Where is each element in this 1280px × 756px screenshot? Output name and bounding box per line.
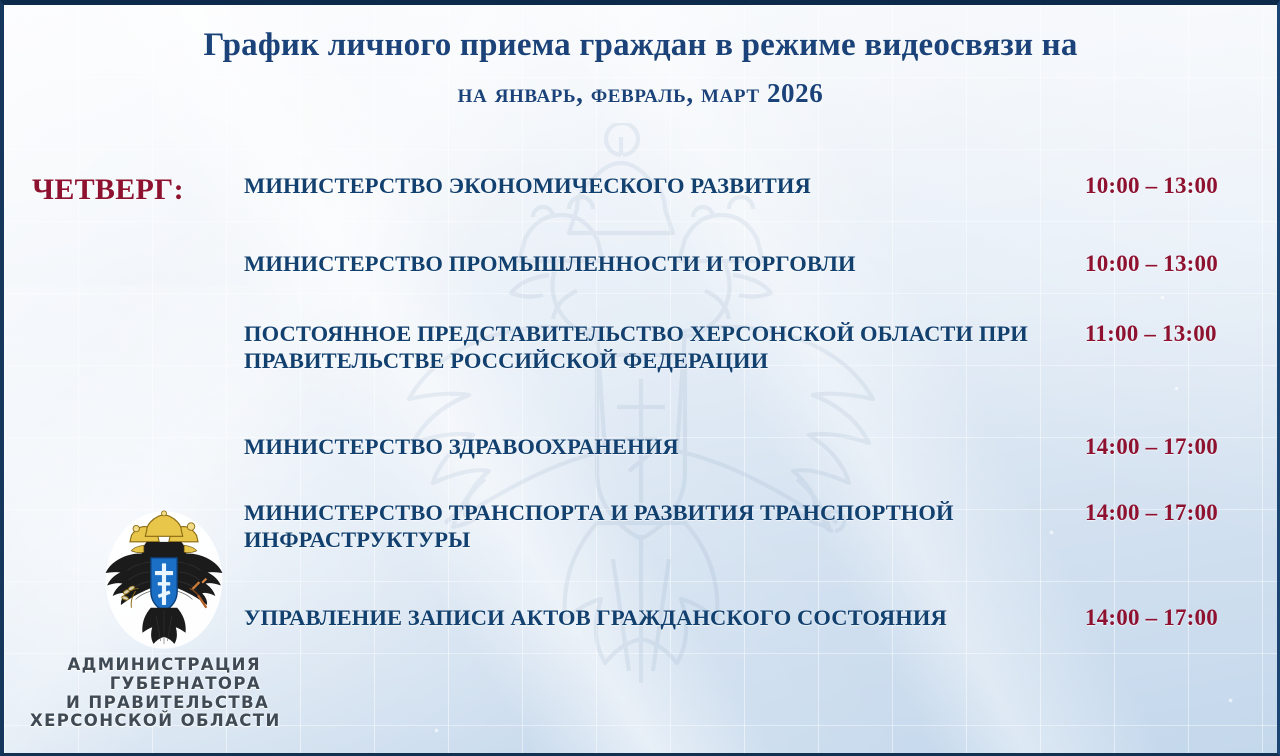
organization-column: МИНИСТЕРСТВО ТРАНСПОРТА И РАЗВИТИЯ ТРАНС… (244, 500, 1079, 553)
page-title: График личного приема граждан в режиме в… (4, 27, 1277, 64)
table-row: ПОСТОЯННОЕ ПРЕДСТАВИТЕЛЬСТВО ХЕРСОНСКОЙ … (4, 321, 1280, 374)
organization-name: ПОСТОЯННОЕ ПРЕДСТАВИТЕЛЬСТВО ХЕРСОНСКОЙ … (244, 321, 1067, 374)
logo-caption-line: ХЕРСОНСКОЙ ОБЛАСТИ (30, 712, 261, 731)
table-row: ЧЕТВЕРГ: МИНИСТЕРСТВО ЭКОНОМИЧЕСКОГО РАЗ… (4, 173, 1280, 206)
presentation-slide: График личного приема граждан в режиме в… (0, 0, 1280, 756)
organization-column: МИНИСТЕРСТВО ЗДРАВООХРАНЕНИЯ (244, 434, 1079, 460)
organization-name: УПРАВЛЕНИЕ ЗАПИСИ АКТОВ ГРАЖДАНСКОГО СОС… (244, 605, 1067, 631)
time-column: 10:00 – 13:00 (1079, 251, 1280, 277)
organization-name: МИНИСТЕРСТВО ЭКОНОМИЧЕСКОГО РАЗВИТИЯ (244, 173, 1067, 199)
time-column: 14:00 – 17:00 (1079, 434, 1280, 460)
time-column: 10:00 – 13:00 (1079, 173, 1280, 199)
logo-caption: АДМИНИСТРАЦИЯ ГУБЕРНАТОРА И ПРАВИТЕЛЬСТВ… (66, 656, 261, 731)
day-column: ЧЕТВЕРГ: (4, 173, 244, 206)
organization-name: МИНИСТЕРСТВО ПРОМЫШЛЕННОСТИ И ТОРГОВЛИ (244, 251, 1067, 277)
logo-caption-line: ГУБЕРНАТОРА (66, 675, 261, 694)
sparkle-dot (434, 728, 439, 733)
appointment-time: 10:00 – 13:00 (1085, 251, 1280, 277)
double-headed-eagle-icon (105, 510, 223, 650)
organization-column: МИНИСТЕРСТВО ПРОМЫШЛЕННОСТИ И ТОРГОВЛИ (244, 251, 1079, 277)
day-label-thursday: ЧЕТВЕРГ: (32, 173, 244, 206)
table-row: МИНИСТЕРСТВО ПРОМЫШЛЕННОСТИ И ТОРГОВЛИ 1… (4, 251, 1280, 277)
table-row: МИНИСТЕРСТВО ЗДРАВООХРАНЕНИЯ 14:00 – 17:… (4, 434, 1280, 460)
organization-column: УПРАВЛЕНИЕ ЗАПИСИ АКТОВ ГРАЖДАНСКОГО СОС… (244, 605, 1079, 631)
appointment-time: 14:00 – 17:00 (1085, 434, 1280, 460)
time-column: 14:00 – 17:00 (1079, 500, 1280, 526)
administration-logo: АДМИНИСТРАЦИЯ ГУБЕРНАТОРА И ПРАВИТЕЛЬСТВ… (66, 510, 261, 731)
page-subtitle: на январь, февраль, март 2026 (4, 78, 1277, 109)
organization-column: МИНИСТЕРСТВО ЭКОНОМИЧЕСКОГО РАЗВИТИЯ (244, 173, 1079, 199)
organization-name: МИНИСТЕРСТВО ЗДРАВООХРАНЕНИЯ (244, 434, 1067, 460)
appointment-time: 11:00 – 13:00 (1085, 321, 1280, 347)
logo-caption-line: И ПРАВИТЕЛЬСТВА (66, 694, 261, 713)
appointment-time: 14:00 – 17:00 (1085, 500, 1280, 526)
appointment-time: 14:00 – 17:00 (1085, 605, 1280, 631)
sparkle-dot (1228, 698, 1233, 703)
time-column: 14:00 – 17:00 (1079, 605, 1280, 631)
appointment-time: 10:00 – 13:00 (1085, 173, 1280, 199)
organization-column: ПОСТОЯННОЕ ПРЕДСТАВИТЕЛЬСТВО ХЕРСОНСКОЙ … (244, 321, 1079, 374)
time-column: 11:00 – 13:00 (1079, 321, 1280, 347)
organization-name: МИНИСТЕРСТВО ТРАНСПОРТА И РАЗВИТИЯ ТРАНС… (244, 500, 1067, 553)
logo-caption-line: АДМИНИСТРАЦИЯ (66, 656, 261, 675)
slide-header: График личного приема граждан в режиме в… (4, 27, 1277, 109)
